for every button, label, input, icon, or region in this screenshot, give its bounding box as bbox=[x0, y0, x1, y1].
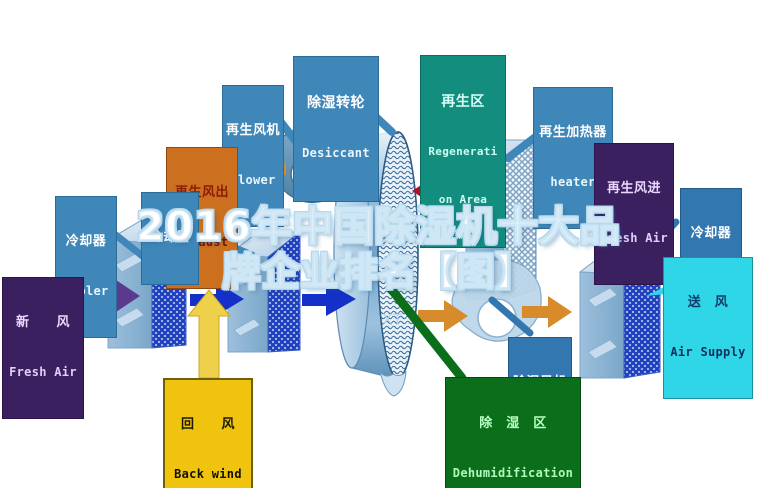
dehumidifier-diagram-image: XT bbox=[0, 0, 757, 488]
label-dehumidification-district: 除 湿 区 Dehumidification District bbox=[445, 377, 581, 488]
label-cooler-mid: 冷却器 bbox=[141, 192, 199, 285]
label-regeneration-area: 再生区 Regenerati on Area bbox=[420, 55, 506, 248]
svg-text:XT: XT bbox=[382, 310, 403, 329]
label-back-wind: 回 风 Back wind bbox=[163, 378, 253, 488]
label-regeneration-fresh-air: 再生风进 Fresh Air bbox=[594, 143, 674, 285]
label-desiccant-wheel: 除湿转轮 Desiccant bbox=[293, 56, 379, 202]
label-fresh-air-in: 新 风 Fresh Air bbox=[2, 277, 84, 419]
label-air-supply: 送 风 Air Supply bbox=[663, 257, 753, 399]
